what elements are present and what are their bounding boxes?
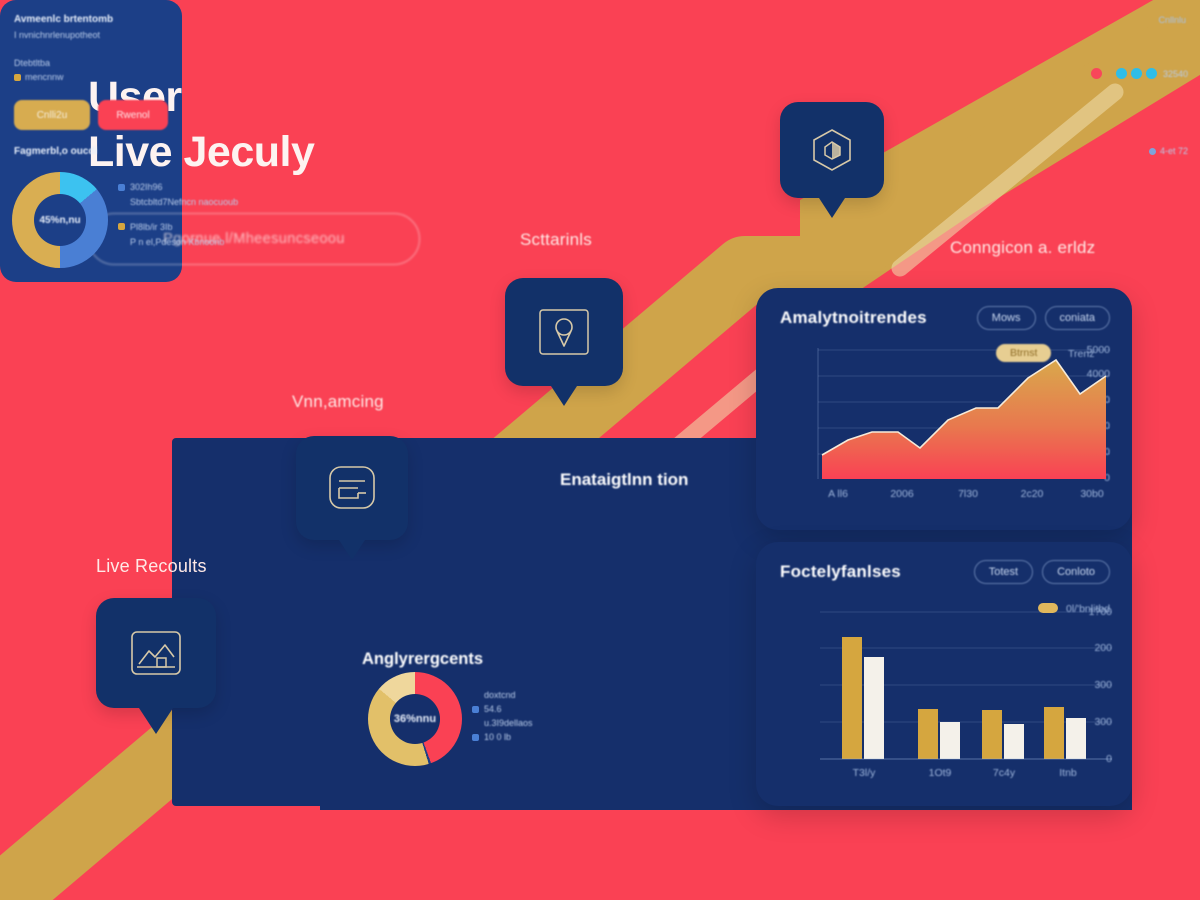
- map-pin-results-bubble[interactable]: [96, 598, 216, 708]
- map-pin-config-bubble[interactable]: [780, 102, 884, 198]
- legend-swatch: [472, 720, 479, 727]
- engagement-meta-swatch: [14, 74, 21, 81]
- document-card-icon: [324, 462, 380, 514]
- legend-item: u.3I9dellaos: [472, 718, 542, 728]
- legend-label: Pl8lb/ir 3Ib: [130, 222, 173, 232]
- bar-gold-2: [918, 709, 938, 759]
- map-pin-locations-label: Scttarinls: [520, 230, 592, 250]
- map-pin-results-label: Live Recoults: [96, 556, 207, 577]
- map-pin-config[interactable]: [780, 102, 884, 218]
- weekly-xtick-0: T3l/y: [853, 767, 876, 779]
- map-pin-locations-tail: [551, 386, 577, 406]
- hexagon-shield-icon: [805, 125, 859, 175]
- legend-label: doxtcnd: [484, 690, 516, 700]
- engagement-card-subtitle: I nvnichnrlenupotheot: [14, 30, 1188, 40]
- engagement-secondary-button-label: Rwenol: [116, 110, 149, 121]
- weekly-filter-1[interactable]: Totest: [974, 560, 1033, 584]
- legend-item: doxtcnd: [472, 690, 542, 700]
- engagement-donut-title: Fagmerbl,o oucdi: [14, 146, 97, 157]
- page-title-line-2: Live Jeculy: [88, 125, 648, 180]
- engagement-meta-value: mencnnw: [25, 72, 64, 82]
- legend-label: 54.6: [484, 704, 502, 714]
- engagement-avatar-group: 32540: [1091, 68, 1188, 79]
- analytics-trends-card: Amalytnoitrendes Mows coniata 0 1000 200…: [756, 288, 1132, 530]
- engagement-donut-legend: 302Ih96 Sbtcbltd7Nefncn naocuoub Pl8lb/i…: [118, 182, 176, 249]
- weekly-analyses-card: Foctelyfanlses Totest Conloto 0 300 300 …: [756, 542, 1132, 806]
- analytics-area-svg: [780, 348, 1110, 503]
- legend-swatch: [472, 734, 479, 741]
- map-pin-results-tail: [139, 708, 173, 734]
- analytics-xtick-2: 7l30: [958, 488, 978, 500]
- image-chart-icon: [127, 627, 185, 679]
- map-pin-config-tail: [819, 198, 845, 218]
- map-pin-locations-bubble[interactable]: [505, 278, 623, 386]
- engagement-donut-badge-row: 4-et 72: [1149, 146, 1188, 156]
- engagement-donut-badge: 4-et 72: [1160, 146, 1188, 156]
- avatar: [1146, 68, 1157, 79]
- assignments-legend: doxtcnd 54.6 u.3I9dellaos 10 0 lb: [472, 690, 542, 746]
- analytics-filter-1[interactable]: Mows: [977, 306, 1036, 330]
- analytics-area-fill: [822, 360, 1106, 479]
- analytics-xtick-0: A ll6: [828, 488, 848, 500]
- map-pin-config-label: Conngicon a. erldz: [950, 238, 1095, 258]
- legend-item: 54.6: [472, 704, 542, 714]
- engagement-secondary-button[interactable]: Rwenol: [98, 100, 168, 130]
- legend-label: u.3I9dellaos: [484, 718, 533, 728]
- weekly-plot: 0 300 300 200 1?00: [780, 604, 1112, 784]
- engagement-section-title: Enataigtlnn tion: [560, 470, 688, 490]
- legend-item: Pl8lb/ir 3Ib: [118, 222, 176, 232]
- bar-gold-4: [1044, 707, 1064, 759]
- engagement-primary-button[interactable]: Cnlli2u: [14, 100, 90, 130]
- analytics-legend-label: Trenz: [1068, 348, 1094, 360]
- analytics-plot: 0 1000 2000 3000 4000 5000: [780, 348, 1110, 503]
- assignments-donut-hole: 36%nnu: [390, 694, 440, 744]
- engagement-meta: Dtebtltba mencnnw: [14, 58, 64, 82]
- legend-swatch: [472, 692, 479, 699]
- map-pin-insights-label: Vnn,amcing: [292, 392, 384, 412]
- analytics-highlight-badge: Btrnst: [996, 344, 1051, 362]
- location-pin-icon: [535, 306, 593, 358]
- legend-swatch: [118, 223, 125, 230]
- legend-swatch: [118, 184, 125, 191]
- map-pin-insights-bubble[interactable]: [296, 436, 408, 540]
- weekly-xtick-2: 7c4y: [993, 767, 1015, 779]
- analytics-card-filters: Mows coniata: [977, 306, 1110, 330]
- analytics-xtick-1: 2006: [890, 488, 913, 500]
- legend-sublabel: Sbtcbltd7Nefncn naocuoub: [130, 196, 176, 210]
- analytics-card-header: Amalytnoitrendes Mows coniata: [756, 288, 1132, 330]
- engagement-meta-value-row: mencnnw: [14, 72, 64, 82]
- weekly-xtick-1: 1Ot9: [929, 767, 952, 779]
- assignments-donut-chart: 36%nnu: [368, 672, 462, 766]
- weekly-filter-2[interactable]: Conloto: [1042, 560, 1110, 584]
- avatar: [1116, 68, 1127, 79]
- engagement-card-title: Avmeenlc brtentomb: [14, 14, 1188, 25]
- map-pin-insights-tail: [339, 540, 365, 560]
- weekly-card-header: Foctelyfanlses Totest Conloto: [756, 542, 1132, 584]
- map-pin-locations[interactable]: [505, 278, 623, 406]
- engagement-donut-center-label: 45%n,nu: [39, 215, 80, 226]
- engagement-card-action[interactable]: Cnllnlu: [1158, 15, 1186, 25]
- engagement-donut-chart: 45%n,nu: [12, 172, 108, 268]
- legend-item: 302Ih96: [118, 182, 176, 192]
- bar-cream-4: [1066, 718, 1086, 759]
- analytics-xtick-3: 2c20: [1021, 488, 1044, 500]
- legend-label: 10 0 lb: [484, 732, 511, 742]
- legend-swatch: [472, 706, 479, 713]
- weekly-xtick-3: Itnb: [1059, 767, 1077, 779]
- assignments-donut-center-label: 36%nnu: [394, 713, 436, 725]
- engagement-donut-hole: 45%n,nu: [34, 194, 86, 246]
- bar-gold-3: [982, 710, 1002, 759]
- legend-item: 10 0 lb: [472, 732, 542, 742]
- weekly-legend-swatch: [1038, 603, 1058, 613]
- weekly-card-title: Foctelyfanlses: [780, 562, 901, 582]
- engagement-meta-label: Dtebtltba: [14, 58, 64, 68]
- bar-cream-2: [940, 722, 960, 759]
- poster-canvas: User Live Jeculy Pgornue l/Mheesuncseoou…: [0, 0, 1200, 900]
- analytics-xtick-4: 30b0: [1080, 488, 1103, 500]
- engagement-info-block: Avmeenlc brtentomb I nvnichnrlenupotheot: [14, 14, 1188, 40]
- page-title: User Live Jeculy: [88, 70, 648, 180]
- bar-gold-1: [842, 637, 862, 759]
- weekly-legend-label: 0l/'bnlitbd: [1066, 603, 1110, 615]
- avatar: [1091, 68, 1102, 79]
- assignments-title: Anglyrergcents: [362, 650, 483, 669]
- analytics-filter-2[interactable]: coniata: [1045, 306, 1110, 330]
- engagement-avatar-count: 32540: [1163, 69, 1188, 79]
- map-pin-results[interactable]: [96, 598, 216, 734]
- weekly-bars-svg: [780, 604, 1112, 784]
- legend-label: 302Ih96: [130, 182, 163, 192]
- bar-cream-3: [1004, 724, 1024, 759]
- legend-sublabel: P n el,Pdeson Kbnoonb: [130, 236, 176, 250]
- donut-badge-dot: [1149, 148, 1156, 155]
- map-pin-insights[interactable]: [296, 436, 408, 560]
- avatar: [1131, 68, 1142, 79]
- bar-cream-1: [864, 657, 884, 759]
- analytics-card-title: Amalytnoitrendes: [780, 308, 927, 328]
- weekly-card-filters: Totest Conloto: [974, 560, 1110, 584]
- engagement-primary-button-label: Cnlli2u: [37, 110, 68, 121]
